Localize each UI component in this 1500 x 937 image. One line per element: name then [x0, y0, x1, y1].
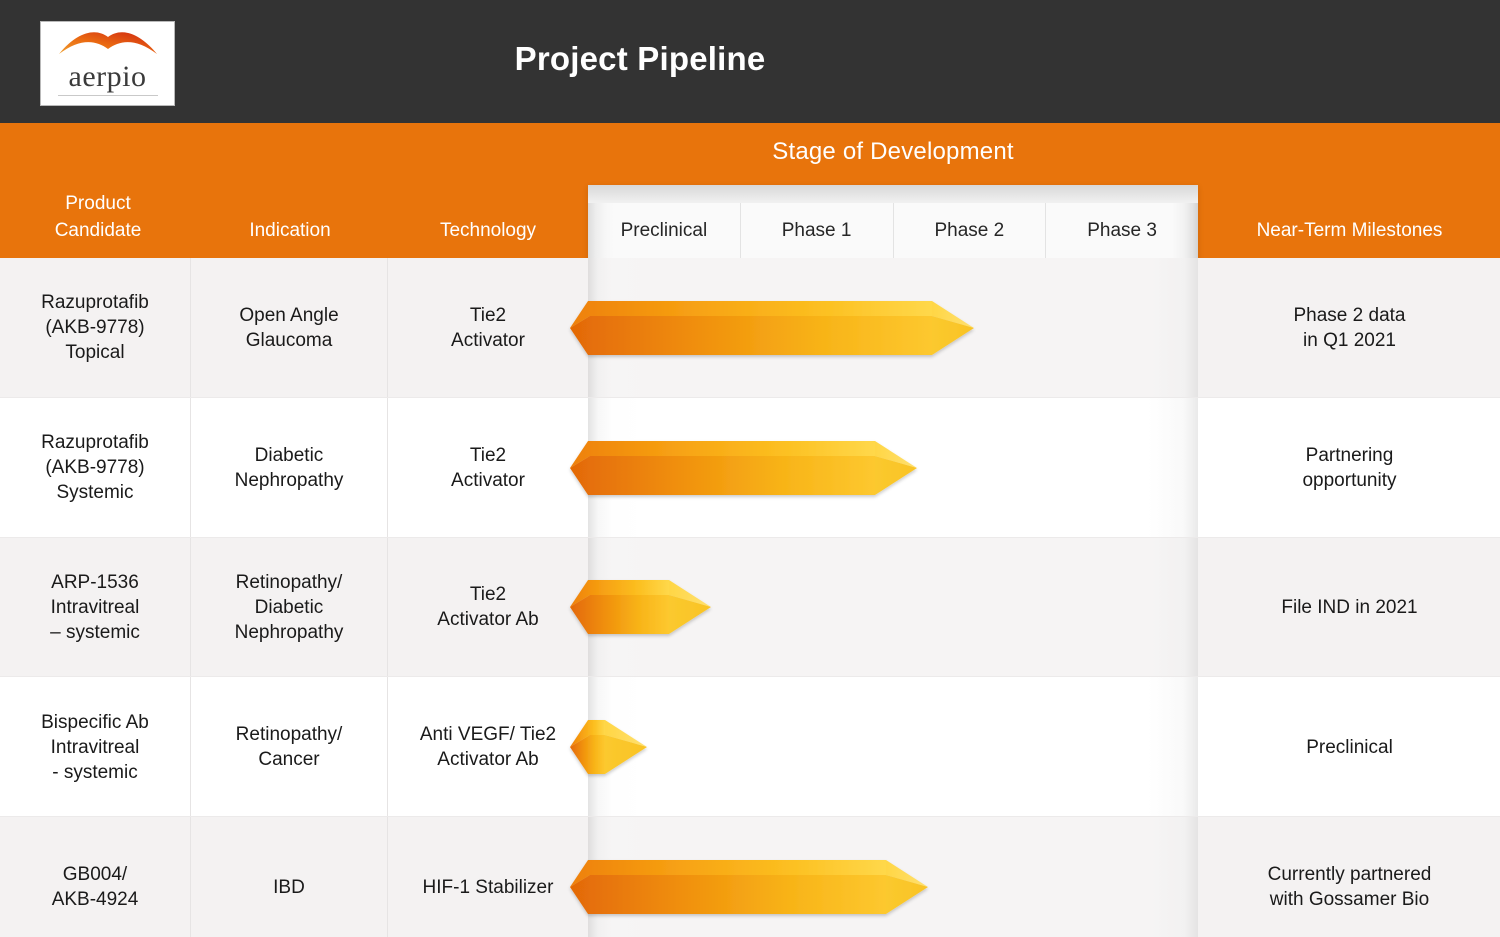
cell-product-candidate: ARP-1536Intravitreal– systemic	[0, 538, 191, 678]
cell-technology-line: Tie2	[451, 303, 525, 328]
column-header-near-term-milestones: Near-Term Milestones	[1199, 217, 1500, 244]
cell-technology: Tie2Activator	[388, 258, 588, 398]
cell-product-candidate-line: (AKB-9778)	[41, 315, 149, 340]
cell-technology-line: Activator	[451, 468, 525, 493]
cell-product-candidate-line: Bispecific Ab	[41, 710, 149, 735]
cell-product-candidate-line: ARP-1536	[50, 570, 140, 595]
row-panel-tint	[588, 677, 1198, 817]
cell-technology: Tie2Activator Ab	[388, 538, 588, 678]
cell-near-term-milestone: Phase 2 datain Q1 2021	[1199, 258, 1500, 398]
logo-underline	[58, 95, 158, 96]
cell-near-term-milestone-line: File IND in 2021	[1281, 595, 1417, 620]
cell-product-candidate-line: AKB-4924	[52, 887, 139, 912]
phase-header-row: PreclinicalPhase 1Phase 2Phase 3	[588, 203, 1198, 258]
stage-progress-bar	[568, 300, 982, 356]
cell-product-candidate-line: Razuprotafib	[41, 430, 149, 455]
cell-technology: HIF-1 Stabilizer	[388, 817, 588, 937]
cell-near-term-milestone: Partneringopportunity	[1199, 398, 1500, 538]
table-row: Bispecific AbIntravitreal- systemicRetin…	[0, 677, 1500, 817]
phase-header-preclinical: Preclinical	[588, 203, 741, 258]
cell-product-candidate-line: - systemic	[41, 760, 149, 785]
cell-indication: Retinopathy/Cancer	[191, 677, 388, 817]
cell-technology-line: Activator Ab	[420, 747, 556, 772]
cell-product-candidate: Razuprotafib(AKB-9778)Systemic	[0, 398, 191, 538]
cell-near-term-milestone-line: with Gossamer Bio	[1268, 887, 1432, 912]
stage-panel-top-bevel	[588, 185, 1198, 203]
cell-product-candidate-line: Systemic	[41, 480, 149, 505]
cell-technology-line: Tie2	[451, 443, 525, 468]
cell-product-candidate-line: GB004/	[52, 862, 139, 887]
cell-indication: Retinopathy/DiabeticNephropathy	[191, 538, 388, 678]
cell-indication-line: Open Angle	[239, 303, 338, 328]
table-row: GB004/AKB-4924IBDHIF-1 StabilizerCurrent…	[0, 817, 1500, 937]
cell-near-term-milestone-line: Partnering	[1302, 443, 1396, 468]
cell-indication-line: Retinopathy/	[235, 570, 344, 595]
cell-product-candidate: Razuprotafib(AKB-9778)Topical	[0, 258, 191, 398]
cell-near-term-milestone-line: Preclinical	[1306, 735, 1393, 760]
stage-progress-bar	[568, 859, 936, 915]
stage-progress-bar	[568, 579, 719, 635]
cell-product-candidate-line: Intravitreal	[50, 595, 140, 620]
cell-near-term-milestone: Preclinical	[1199, 677, 1500, 817]
cell-technology-line: Activator	[451, 328, 525, 353]
cell-indication-line: Nephropathy	[235, 620, 344, 645]
cell-technology-line: Tie2	[437, 582, 538, 607]
phase-header-phase-3: Phase 3	[1046, 203, 1198, 258]
pipeline-infographic: aerpio Project Pipeline Stage of Develop…	[0, 0, 1500, 937]
table-row: Razuprotafib(AKB-9778)TopicalOpen AngleG…	[0, 258, 1500, 398]
cell-near-term-milestone-line: opportunity	[1302, 468, 1396, 493]
cell-product-candidate-line: Topical	[41, 340, 149, 365]
cell-near-term-milestone-line: Currently partnered	[1268, 862, 1432, 887]
stage-progress-bar	[568, 440, 925, 496]
cell-product-candidate-line: – systemic	[50, 620, 140, 645]
page-title-text: Project Pipeline	[515, 40, 766, 78]
cell-product-candidate: Bispecific AbIntravitreal- systemic	[0, 677, 191, 817]
cell-indication-line: IBD	[273, 875, 305, 900]
column-header-product-line2: Candidate	[5, 217, 191, 244]
cell-technology-line: HIF-1 Stabilizer	[423, 875, 554, 900]
phase-header-phase-1: Phase 1	[741, 203, 894, 258]
stage-of-development-label: Stage of Development	[588, 138, 1198, 166]
cell-technology-line: Anti VEGF/ Tie2	[420, 722, 556, 747]
cell-near-term-milestone: File IND in 2021	[1199, 538, 1500, 678]
cell-product-candidate-line: Razuprotafib	[41, 290, 149, 315]
column-header-indication: Indication	[192, 217, 388, 244]
table-row: ARP-1536Intravitreal– systemicRetinopath…	[0, 538, 1500, 678]
cell-indication-line: Glaucoma	[239, 328, 338, 353]
cell-near-term-milestone-line: Phase 2 data	[1294, 303, 1406, 328]
cell-indication-line: Diabetic	[235, 595, 344, 620]
column-header-product-line1: Product	[5, 190, 191, 217]
cell-near-term-milestone-line: in Q1 2021	[1294, 328, 1406, 353]
table-row: Razuprotafib(AKB-9778)SystemicDiabeticNe…	[0, 398, 1500, 538]
pipeline-rows: Razuprotafib(AKB-9778)TopicalOpen AngleG…	[0, 258, 1500, 937]
cell-indication: IBD	[191, 817, 388, 937]
cell-indication-line: Nephropathy	[235, 468, 344, 493]
top-header-bar: aerpio Project Pipeline	[0, 0, 1500, 123]
stage-progress-bar	[568, 719, 655, 775]
cell-indication-line: Cancer	[236, 747, 343, 772]
cell-indication: DiabeticNephropathy	[191, 398, 388, 538]
column-header-product-candidate: Product Candidate	[5, 190, 191, 244]
page-title: Project Pipeline	[0, 40, 1500, 78]
column-header-technology: Technology	[389, 217, 587, 244]
cell-product-candidate-line: (AKB-9778)	[41, 455, 149, 480]
cell-product-candidate: GB004/AKB-4924	[0, 817, 191, 937]
cell-product-candidate-line: Intravitreal	[41, 735, 149, 760]
phase-header-phase-2: Phase 2	[894, 203, 1047, 258]
cell-near-term-milestone: Currently partneredwith Gossamer Bio	[1199, 817, 1500, 937]
cell-technology: Anti VEGF/ Tie2Activator Ab	[388, 677, 588, 817]
cell-indication-line: Diabetic	[235, 443, 344, 468]
cell-technology-line: Activator Ab	[437, 607, 538, 632]
cell-indication-line: Retinopathy/	[236, 722, 343, 747]
cell-indication: Open AngleGlaucoma	[191, 258, 388, 398]
cell-technology: Tie2Activator	[388, 398, 588, 538]
